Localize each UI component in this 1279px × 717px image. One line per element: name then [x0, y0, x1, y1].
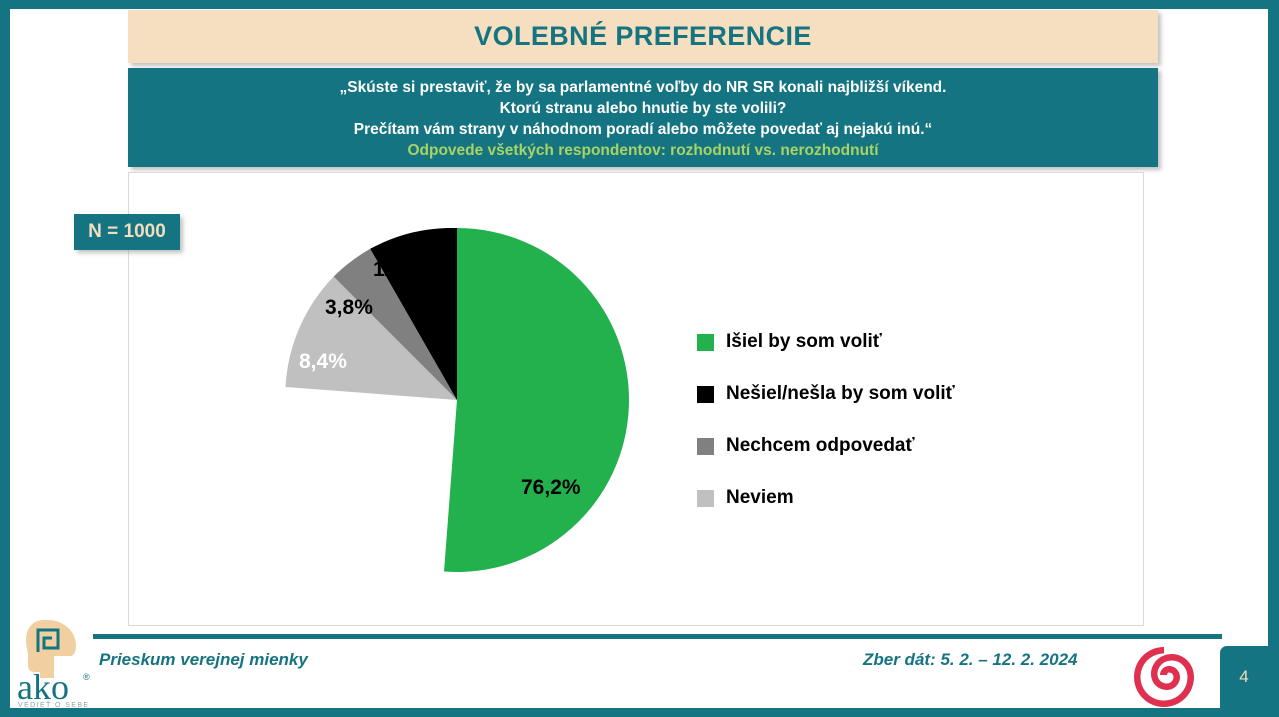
chart-panel	[128, 172, 1144, 626]
question-line-2: Ktorú stranu alebo hnutie by ste volili?	[500, 98, 787, 119]
page-title: VOLEBNÉ PREFERENCIE	[474, 21, 812, 52]
slide: VOLEBNÉ PREFERENCIE „Skúste si prestaviť…	[0, 0, 1279, 717]
ako-tagline: VEDIEŤ O SEBE	[18, 700, 90, 708]
legend-label-neviem: Neviem	[726, 487, 794, 509]
pie-value-label-isiel: 76,2%	[521, 476, 581, 500]
question-band: „Skúste si prestaviť, že by sa parlament…	[128, 68, 1158, 167]
svg-text:®: ®	[83, 672, 90, 682]
slide-border-top	[0, 0, 1279, 9]
footer-fieldwork-dates: Zber dát: 5. 2. – 12. 2. 2024	[863, 650, 1078, 670]
legend-swatch-dark-gray	[697, 438, 714, 455]
ako-logo: ako ® VEDIEŤ O SEBE	[14, 616, 100, 708]
question-line-1: „Skúste si prestaviť, že by sa parlament…	[340, 77, 947, 98]
pie-chart	[285, 228, 629, 572]
legend-label-isiel: Išiel by som voliť	[726, 331, 882, 353]
pie-value-label-nesiel: 8,4%	[299, 350, 347, 374]
svg-text:ako: ako	[17, 667, 69, 707]
legend-label-nechcem: Nechcem odpovedať	[726, 435, 915, 457]
legend-item-isiel: Išiel by som voliť	[697, 316, 955, 368]
pie-slice-isiel-by-som-volit	[444, 228, 629, 572]
legend-swatch-black	[697, 386, 714, 403]
pie-value-label-nechcem: 3,8%	[325, 296, 373, 320]
legend-item-nechcem: Nechcem odpovedať	[697, 420, 955, 472]
legend-item-neviem: Neviem	[697, 472, 955, 524]
slide-border-bottom	[0, 708, 1279, 717]
legend-swatch-light-gray	[697, 490, 714, 507]
chart-legend: Išiel by som voliť Nešiel/nešla by som v…	[697, 316, 955, 524]
pie-value-label-neviem: 11,6%	[373, 258, 431, 282]
ako-logo-svg: ako ® VEDIEŤ O SEBE	[14, 616, 100, 708]
legend-swatch-green	[697, 334, 714, 351]
sample-size-badge: N = 1000	[74, 214, 180, 250]
pie-chart-svg	[285, 228, 629, 572]
spiral-logo-svg	[1132, 645, 1196, 709]
slide-border-left	[0, 0, 10, 717]
page-number-badge: 4	[1220, 646, 1268, 708]
ako-wordmark: ako ®	[17, 667, 90, 707]
footer-divider	[93, 634, 1222, 639]
spiral-icon	[1134, 647, 1194, 707]
spiral-logo	[1132, 645, 1196, 709]
title-bar: VOLEBNÉ PREFERENCIE	[128, 10, 1158, 63]
legend-label-nesiel: Nešiel/nešla by som voliť	[726, 383, 955, 405]
question-line-4: Odpovede všetkých respondentov: rozhodnu…	[407, 140, 878, 161]
footer-study-label: Prieskum verejnej mienky	[99, 650, 308, 670]
legend-item-nesiel: Nešiel/nešla by som voliť	[697, 368, 955, 420]
slide-border-right	[1268, 0, 1279, 717]
question-line-3: Prečítam vám strany v náhodnom poradí al…	[354, 119, 933, 140]
